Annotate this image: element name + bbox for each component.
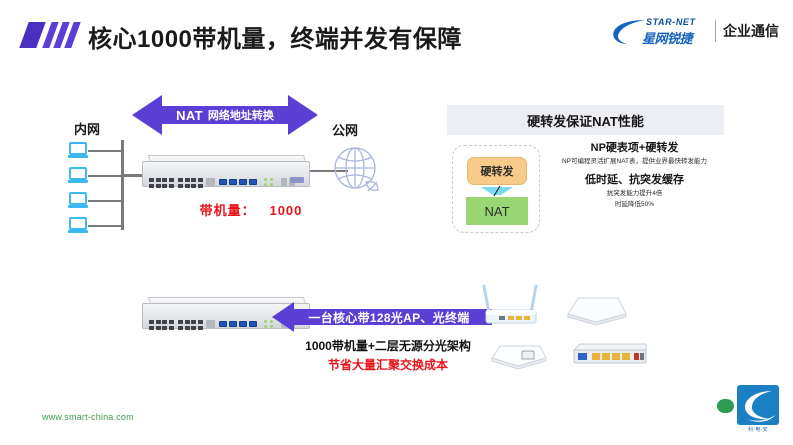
feature-2-detail-1: 抗突发能力提升4倍 — [545, 189, 724, 199]
nat-box: NAT — [466, 197, 528, 225]
architecture-line-1: 1000带机量+二层无源分光架构 — [272, 337, 504, 354]
ont-switch-icon — [570, 342, 650, 372]
feature-1-heading: NP硬表项+硬转发 — [545, 141, 724, 156]
onu-box-icon — [488, 340, 550, 372]
laptop-link — [88, 150, 122, 152]
ceiling-ap-icon — [562, 292, 630, 326]
funnel-icon — [479, 186, 515, 196]
company-logo: STAR-NET 星网锐捷 企业通信 — [612, 14, 779, 48]
feature-list: NP硬表项+硬转发 NP可编程灵活扩展NAT表，提供业界最快转发能力 低时延、抗… — [545, 141, 724, 210]
wifi-router-icon — [478, 284, 548, 330]
nat-network-diagram: 内网 公网 — [0, 62, 440, 262]
capacity-annotation: 带机量： 1000 — [176, 200, 326, 219]
laptop-icon — [68, 142, 88, 159]
capacity-label: 带机量： — [200, 203, 256, 218]
laptop-link — [88, 225, 122, 227]
terminal-devices-group — [478, 284, 658, 384]
optical-architecture-section: 一台核心带128光AP、光终端 1000带机量+二层无源分光架构 节省大量汇聚交… — [0, 280, 793, 390]
footer-logo: 科·电·安 — [717, 383, 779, 435]
network-bus-line — [121, 140, 124, 230]
star-net-logo-mark: STAR-NET 星网锐捷 — [612, 15, 708, 47]
nat-performance-panel: 硬转发保证NAT性能 硬转发 NAT NP硬表项+硬转发 NP可编程灵活扩展NA… — [447, 105, 724, 240]
label-public-network: 公网 — [332, 120, 358, 139]
nat-arrow-label-en: NAT — [176, 108, 203, 123]
footer-url: www.smart-china.com — [42, 412, 134, 422]
panel-title: 硬转发保证NAT性能 — [527, 111, 644, 130]
slide-header: 核心1000带机量，终端并发有保障 STAR-NET 星网锐捷 企业通信 — [0, 0, 793, 62]
core-switch-device — [142, 153, 310, 191]
panel-header: 硬转发保证NAT性能 — [447, 105, 724, 135]
swoosh-icon — [612, 19, 646, 45]
footer-logo-dot-icon — [717, 399, 734, 413]
hard-forward-box: 硬转发 — [467, 157, 527, 185]
feature-2-heading: 低时延、抗突发缓存 — [545, 173, 724, 188]
brand-division: 企业通信 — [723, 21, 779, 41]
capacity-value: 1000 — [269, 203, 302, 218]
brand-chinese: 星网锐捷 — [642, 28, 692, 47]
feature-2-detail-2: 时延降低50% — [545, 200, 724, 210]
laptop-icon — [68, 192, 88, 209]
slide: 核心1000带机量，终端并发有保障 STAR-NET 星网锐捷 企业通信 内网 … — [0, 0, 793, 445]
globe-icon — [330, 144, 386, 200]
page-title: 核心1000带机量，终端并发有保障 — [88, 19, 462, 54]
label-inner-network: 内网 — [74, 119, 100, 138]
bus-to-switch-link — [122, 174, 144, 177]
logo-divider — [715, 20, 716, 42]
feature-1-detail: NP可编程灵活扩展NAT表，提供业界最快转发能力 — [545, 157, 724, 166]
footer-logo-text: 科·电·安 — [737, 426, 779, 433]
optical-ap-arrow-label: 一台核心带128光AP、光终端 — [272, 302, 492, 332]
hardware-forwarding-illustration: 硬转发 NAT — [452, 145, 540, 233]
laptop-link — [88, 200, 122, 202]
footer-logo-square-icon — [737, 385, 779, 425]
laptop-icon — [68, 167, 88, 184]
laptop-link — [88, 175, 122, 177]
panel-body: 硬转发 NAT NP硬表项+硬转发 NP可编程灵活扩展NAT表，提供业界最快转发… — [447, 135, 724, 240]
architecture-line-2: 节省大量汇聚交换成本 — [272, 356, 504, 373]
nat-arrow-label-cn: 网络地址转换 — [208, 107, 274, 123]
nat-arrow: NAT 网络地址转换 — [132, 95, 318, 135]
optical-ap-arrow: 一台核心带128光AP、光终端 — [272, 302, 492, 332]
brand-english: STAR-NET — [646, 17, 696, 27]
decorative-stripes-icon — [24, 22, 82, 48]
laptop-icon — [68, 217, 88, 234]
